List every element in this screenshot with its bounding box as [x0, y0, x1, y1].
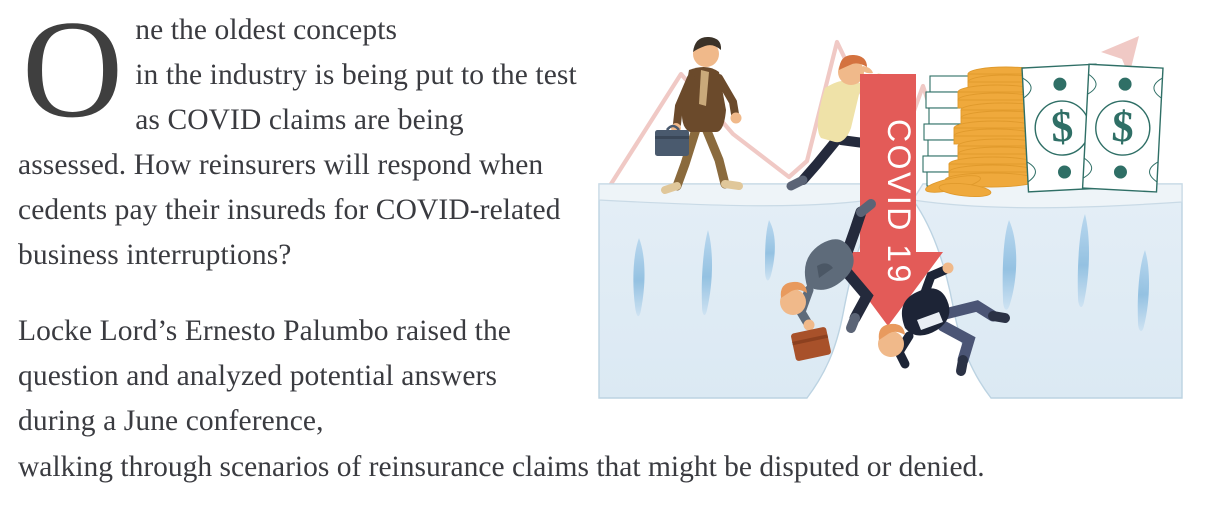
- dollar-sign-left: $: [1050, 102, 1075, 152]
- paragraph-two-tail: walking through scenarios of reinsurance…: [18, 444, 1194, 490]
- dollar-sign-right: $: [1111, 102, 1136, 152]
- drop-cap: O: [22, 16, 123, 124]
- dollar-bills: $ $: [1022, 64, 1163, 192]
- wrap-shim-b: [515, 8, 531, 53]
- covid-arrow-label: COVID 19: [881, 119, 917, 285]
- illustration-svg: $ $: [593, 14, 1188, 414]
- wrap-shim-a: [531, 8, 577, 53]
- article-excerpt: $ $: [0, 0, 1212, 518]
- money-stack: $ $: [923, 64, 1163, 198]
- covid-cliff-illustration: $ $: [593, 14, 1188, 414]
- wrap-shim-c: [425, 8, 515, 53]
